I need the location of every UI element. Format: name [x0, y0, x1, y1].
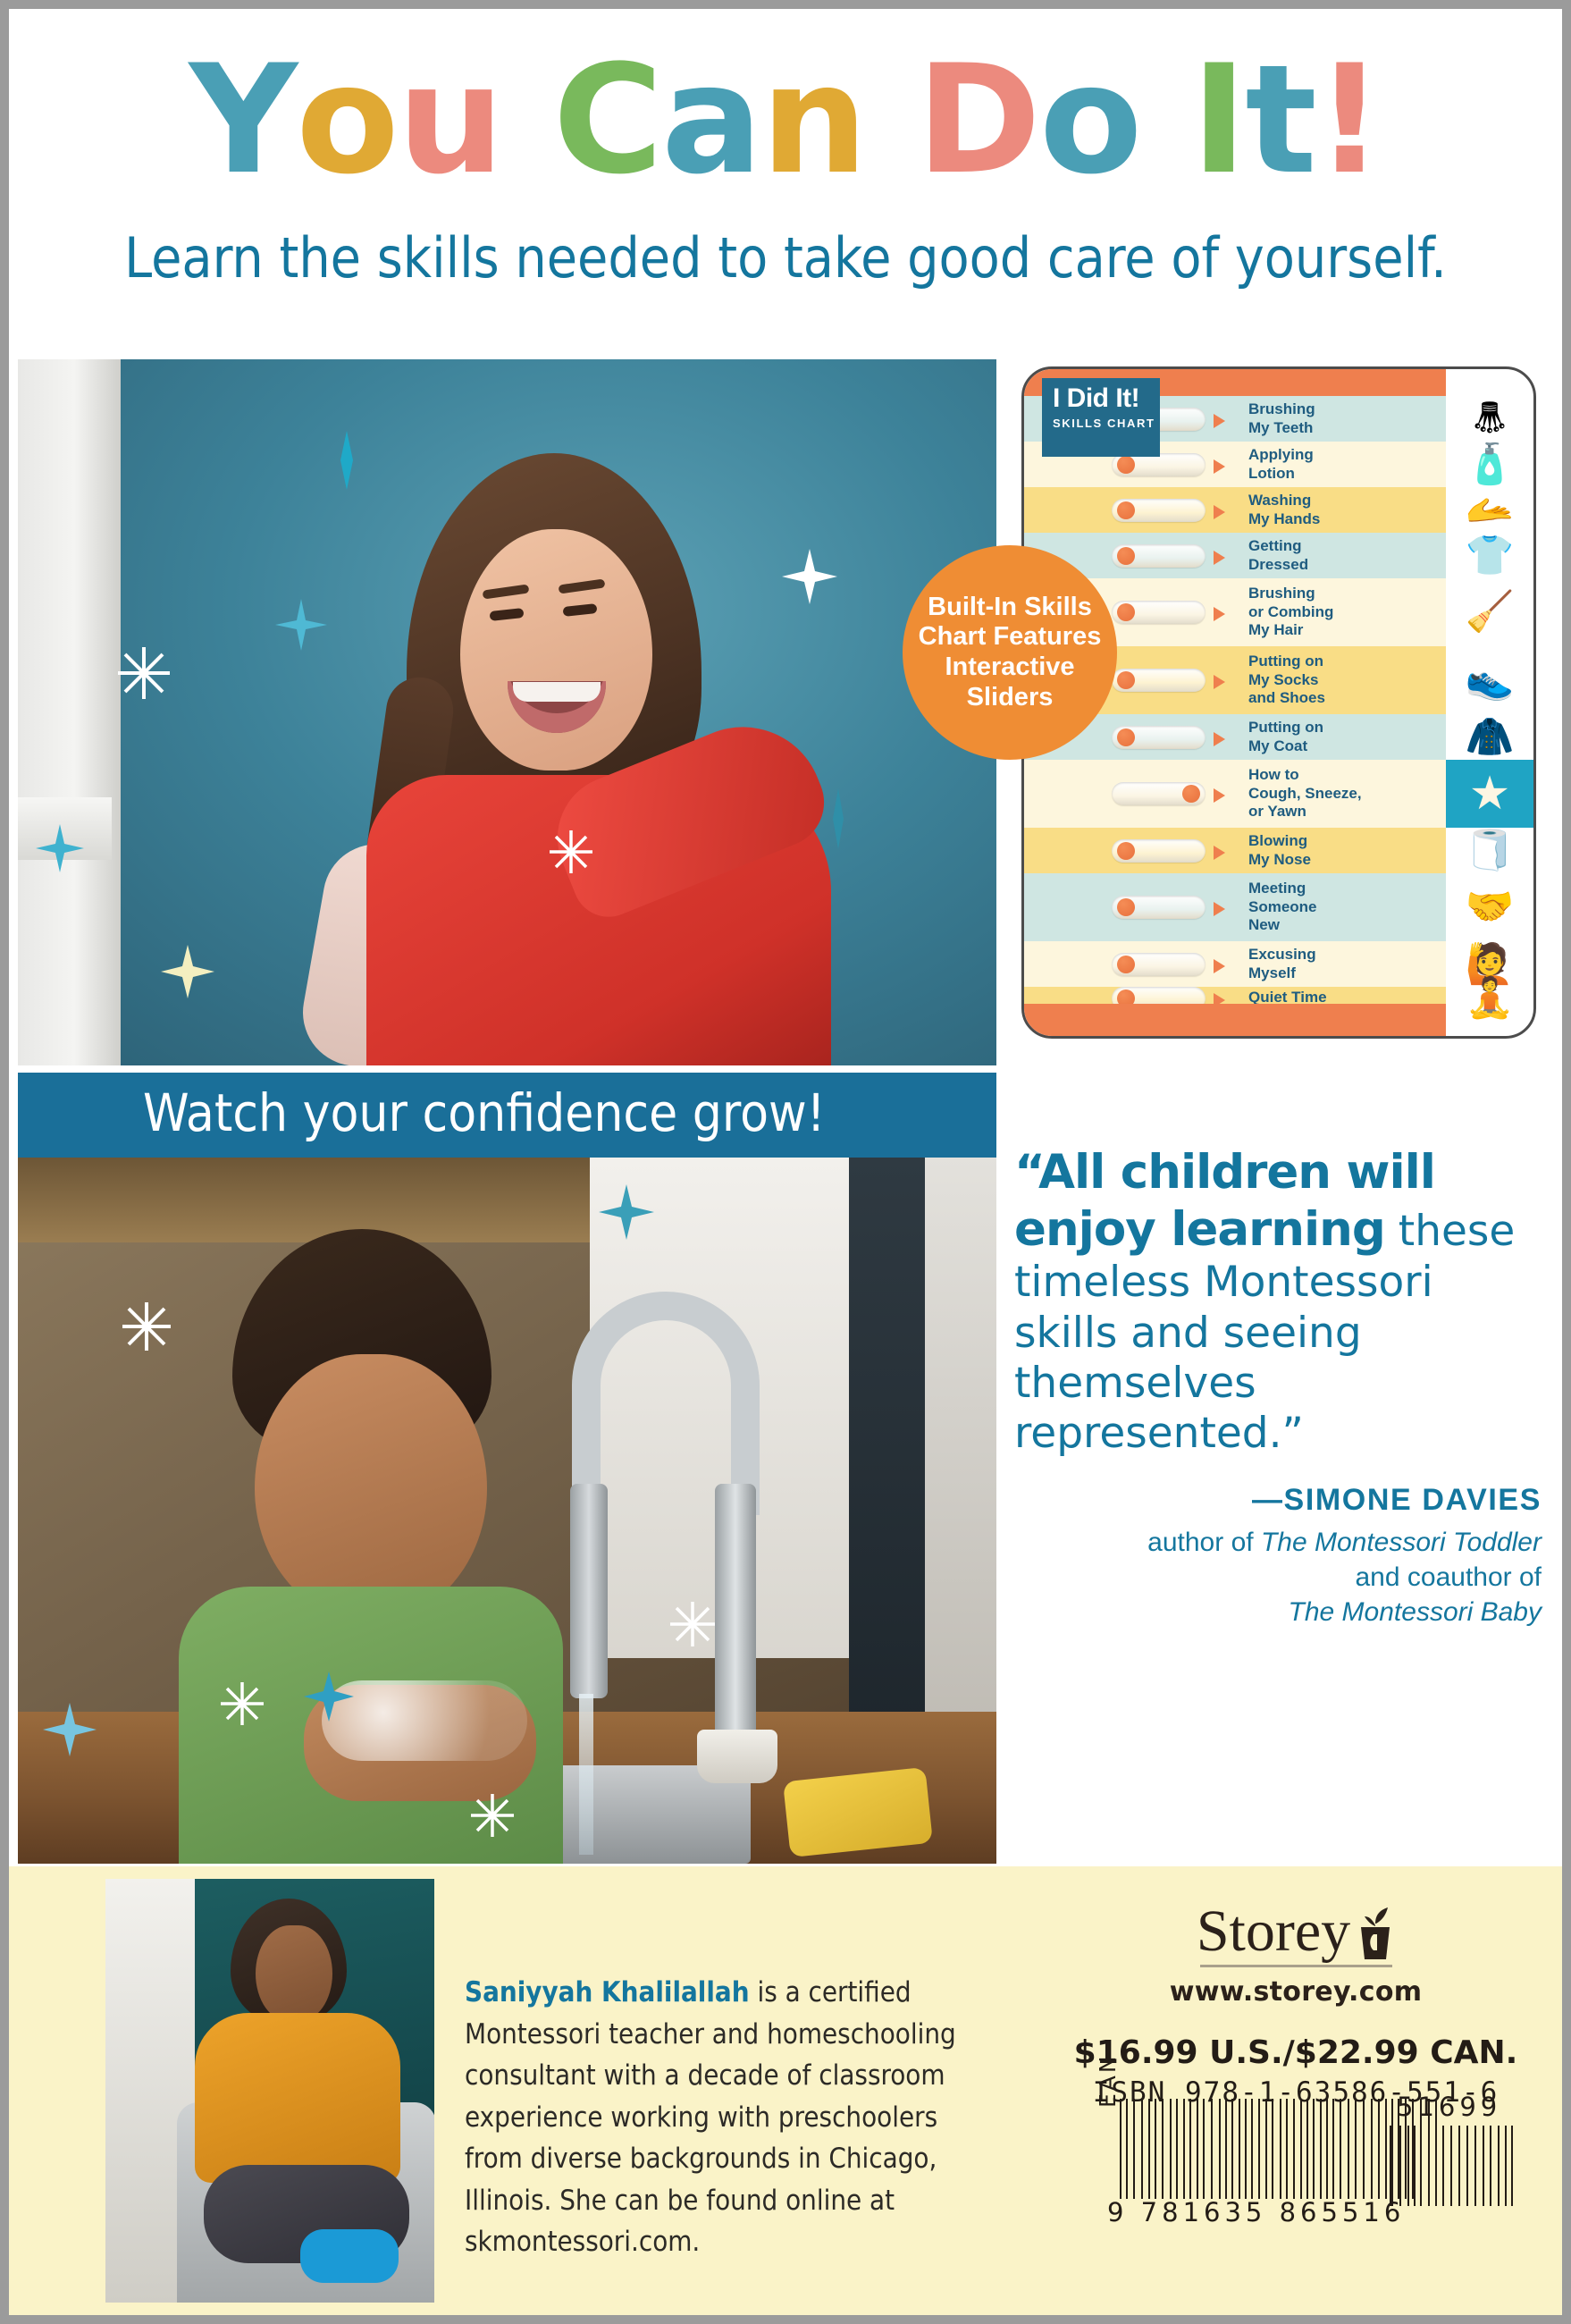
- photo1-face: [460, 529, 652, 770]
- barcode-gap: [1158, 2099, 1160, 2199]
- barcode-gap: [1255, 2099, 1256, 2199]
- title-letter: [502, 45, 553, 195]
- chart-icon-column: 🨥🧴🫴👕🧹👟🧥★🧻🤝🙋🧘: [1446, 396, 1533, 1009]
- skill-slider[interactable]: [1112, 726, 1206, 749]
- barcode-gap: [1454, 2126, 1457, 2206]
- photo2-head: [255, 1354, 487, 1622]
- barcode-addon-bars: [1390, 2126, 1517, 2206]
- publisher-logo: Storey: [1063, 1902, 1528, 1961]
- barcode-bar: [1498, 2126, 1500, 2206]
- barcode-gap: [1446, 2126, 1449, 2206]
- barcode-bar: [1141, 2099, 1143, 2199]
- publisher-block: Storey www.storey.com $16.99 U.S./$22.99…: [1063, 1902, 1528, 2109]
- barcode-gap: [1262, 2099, 1264, 2199]
- hairbrush-icon: 🧹: [1446, 578, 1533, 646]
- credit-title-1: The Montessori Toddler: [1261, 1528, 1542, 1557]
- barcode-bar: [1428, 2126, 1430, 2206]
- barcode-bar: [1474, 2126, 1476, 2206]
- quote-credit: author of The Montessori Toddler and coa…: [1014, 1525, 1542, 1629]
- barcode-gap: [1462, 2126, 1465, 2206]
- barcode-gap: [1137, 2099, 1139, 2199]
- barcode-bar: [1490, 2126, 1491, 2206]
- barcode-bar: [1313, 2099, 1315, 2199]
- barcode-gap: [1206, 2099, 1209, 2199]
- barcode-bar: [1148, 2099, 1150, 2199]
- skill-label: BlowingMy Nose: [1248, 832, 1402, 869]
- barcode-bar: [1239, 2099, 1240, 2199]
- ean-label: EAN: [1095, 2053, 1121, 2108]
- barcode-gap: [1336, 2099, 1338, 2199]
- barcode-bar: [1225, 2099, 1227, 2199]
- skill-label: Putting onMy Socksand Shoes: [1248, 653, 1402, 708]
- barcode-gap: [1395, 2126, 1398, 2206]
- barcode-gap: [1343, 2099, 1346, 2199]
- barcode-gap: [1478, 2126, 1481, 2206]
- toothbrush-icon: 🨥: [1446, 396, 1533, 442]
- barcode-bar: [1511, 2126, 1513, 2206]
- shoes-icon: 👟: [1446, 646, 1533, 714]
- slider-arrow-icon: [1214, 505, 1225, 519]
- skill-slider[interactable]: [1112, 782, 1206, 805]
- barcode-bar: [1280, 2099, 1281, 2199]
- skill-slider[interactable]: [1112, 896, 1206, 919]
- quote-bold: “All children will enjoy learning: [1014, 1145, 1435, 1257]
- photo1-window-frame: [18, 359, 121, 1065]
- barcode-gap: [1297, 2099, 1298, 2199]
- title-letter: a: [661, 45, 760, 195]
- barcode-bar: [1170, 2099, 1172, 2199]
- title-letter: [1140, 45, 1191, 195]
- photo-boy-washing-hands: [18, 1158, 996, 1864]
- barcode-bar: [1211, 2099, 1213, 2199]
- slider-knob[interactable]: [1117, 603, 1135, 621]
- slider-knob[interactable]: [1117, 842, 1135, 860]
- barcode-gap: [1222, 2099, 1223, 2199]
- author-photo-face: [256, 1925, 332, 2022]
- slider-arrow-icon: [1214, 846, 1225, 860]
- publisher-name: Storey: [1197, 1902, 1350, 1961]
- barcode-gap: [1145, 2099, 1147, 2199]
- photo2-window-frame: [849, 1158, 925, 1801]
- barcode-digits: 9 781635 865516: [1107, 2197, 1405, 2227]
- handshake-icon: 🤝: [1446, 873, 1533, 941]
- star-icon: ★: [1446, 760, 1533, 828]
- barcode-gap: [1403, 2126, 1406, 2206]
- photo2-soap-suds: [322, 1680, 527, 1761]
- barcode-bar: [1348, 2099, 1349, 2199]
- credit-prefix: author of: [1147, 1528, 1261, 1557]
- skill-slider[interactable]: [1112, 953, 1206, 976]
- title-letter: o: [1039, 45, 1140, 195]
- slider-arrow-icon: [1214, 607, 1225, 621]
- barcode-gap: [1374, 2099, 1376, 2199]
- barcode-bar: [1466, 2126, 1468, 2206]
- skill-slider[interactable]: [1112, 544, 1206, 568]
- author-bio: Saniyyah Khalilallah is a certified Mont…: [465, 1972, 1001, 2263]
- barcode-gap: [1235, 2099, 1237, 2199]
- barcode-bar: [1286, 2099, 1288, 2199]
- title-letter: o: [296, 45, 397, 195]
- skill-label: ApplyingLotion: [1248, 446, 1402, 483]
- author-portrait: [105, 1879, 434, 2303]
- barcode-gap: [1200, 2099, 1201, 2199]
- skill-label: GettingDressed: [1248, 537, 1402, 574]
- barcode-bar: [1326, 2099, 1328, 2199]
- barcode-gap: [1493, 2126, 1496, 2206]
- slider-arrow-icon: [1214, 551, 1225, 565]
- title-letter: n: [760, 45, 866, 195]
- title-letter: C: [553, 45, 661, 195]
- title-letter: !: [1315, 45, 1382, 195]
- skill-label: ExcusingMyself: [1248, 946, 1402, 982]
- slider-knob[interactable]: [1117, 501, 1135, 519]
- barcode-bar: [1378, 2099, 1380, 2199]
- chart-bottom-bar: [1024, 1004, 1446, 1036]
- barcode-bar: [1450, 2126, 1452, 2206]
- slider-arrow-icon: [1214, 959, 1225, 973]
- skill-label: Brushingor CombingMy Hair: [1248, 585, 1402, 640]
- barcode-gap: [1316, 2099, 1318, 2199]
- meditating-child-icon: 🧘: [1446, 987, 1533, 1009]
- barcode-bar: [1320, 2099, 1322, 2199]
- barcode-bar: [1306, 2099, 1308, 2199]
- review-quote-block: “All children will enjoy learning these …: [1014, 1144, 1542, 1859]
- page-title: You Can Do It!: [9, 45, 1562, 195]
- quote-credit-line-3: The Montessori Baby: [1014, 1595, 1542, 1629]
- barcode-addon-digits: 51699: [1397, 2092, 1501, 2122]
- barcode-gap: [1152, 2099, 1153, 2199]
- flowerpot-icon: [1356, 1906, 1395, 1961]
- barcode-gap: [1290, 2099, 1291, 2199]
- slider-knob[interactable]: [1182, 785, 1200, 803]
- feature-badge-text: Built-In Skills Chart Features Interacti…: [903, 593, 1117, 713]
- slider-knob[interactable]: [1117, 456, 1135, 474]
- book-back-cover: You Can Do It! Learn the skills needed t…: [9, 9, 1562, 2315]
- barcode-gap: [1351, 2099, 1353, 2199]
- photo-girl-getting-dressed: [18, 359, 996, 1065]
- barcode-gap: [1411, 2126, 1412, 2206]
- author-name: Saniyyah Khalilallah: [465, 1976, 750, 2008]
- page-subtitle: Learn the skills needed to take good car…: [9, 228, 1562, 289]
- barcode-bar: [1442, 2126, 1444, 2206]
- slider-knob[interactable]: [1117, 956, 1135, 973]
- barcode-gap: [1486, 2126, 1488, 2206]
- barcode-bar: [1483, 2126, 1484, 2206]
- slider-knob[interactable]: [1117, 547, 1135, 565]
- barcode-bar: [1390, 2126, 1393, 2206]
- barcode-bar: [1126, 2099, 1128, 2199]
- barcode-bar: [1458, 2126, 1460, 2206]
- skill-slider[interactable]: [1112, 601, 1206, 624]
- barcode-bar: [1120, 2099, 1122, 2199]
- barcode-bar: [1219, 2099, 1221, 2199]
- chart-row: GettingDressed: [1024, 533, 1446, 578]
- title-letter: [866, 45, 917, 195]
- clothes-icon: 👕: [1446, 533, 1533, 578]
- barcode-bar: [1272, 2099, 1273, 2199]
- barcode-gap: [1214, 2099, 1217, 2199]
- barcode-bar: [1399, 2126, 1401, 2206]
- barcode-bar: [1300, 2099, 1302, 2199]
- slider-arrow-icon: [1214, 732, 1225, 746]
- skill-label: BrushingMy Teeth: [1248, 400, 1402, 437]
- publisher-url[interactable]: www.storey.com: [1063, 1976, 1528, 2008]
- barcode-gap: [1508, 2126, 1509, 2206]
- slider-arrow-icon: [1214, 414, 1225, 428]
- barcode-bar: [1371, 2099, 1373, 2199]
- barcode-gap: [1358, 2099, 1361, 2199]
- barcode-bar: [1265, 2099, 1267, 2199]
- barcode-bar: [1245, 2099, 1247, 2199]
- barcode-bar: [1340, 2099, 1341, 2199]
- slider-arrow-icon: [1214, 675, 1225, 689]
- barcode-gap: [1304, 2099, 1305, 2199]
- slider-arrow-icon: [1214, 902, 1225, 916]
- barcode-gap: [1269, 2099, 1270, 2199]
- slider-arrow-icon: [1214, 788, 1225, 803]
- barcode-bar: [1420, 2126, 1422, 2206]
- barcode-gap: [1330, 2099, 1331, 2199]
- barcode-bar: [1155, 2099, 1156, 2199]
- chart-row: ExcusingMyself: [1024, 941, 1446, 987]
- barcode-gap: [1470, 2126, 1473, 2206]
- title-letter: Y: [189, 45, 297, 195]
- title-letter: u: [398, 45, 503, 195]
- skill-slider[interactable]: [1112, 839, 1206, 863]
- quote-text: “All children will enjoy learning these …: [1014, 1144, 1542, 1460]
- barcode-bar: [1505, 2126, 1507, 2206]
- price-text: $16.99 U.S./$22.99 CAN.: [1063, 2034, 1528, 2071]
- barcode-bar: [1176, 2099, 1178, 2199]
- barcode-gap: [1501, 2126, 1503, 2206]
- skill-label: Putting onMy Coat: [1248, 719, 1402, 755]
- quote-attribution: —SIMONE DAVIES: [1014, 1483, 1542, 1518]
- tissue-box-icon: 🧻: [1446, 828, 1533, 873]
- photo2-dish-cloth: [783, 1767, 933, 1857]
- barcode-gap: [1187, 2099, 1188, 2199]
- barcode-gap: [1165, 2099, 1168, 2199]
- barcode-bar: [1435, 2126, 1437, 2206]
- barcode-gap: [1229, 2099, 1230, 2199]
- barcode-gap: [1366, 2099, 1369, 2199]
- barcode-gap: [1310, 2099, 1311, 2199]
- barcode-bar: [1293, 2099, 1295, 2199]
- barcode-bar: [1332, 2099, 1334, 2199]
- chart-row: MeetingSomeoneNew: [1024, 873, 1446, 941]
- barcode-gap: [1515, 2126, 1516, 2206]
- title-letter: t: [1245, 45, 1315, 195]
- skill-label: WashingMy Hands: [1248, 492, 1402, 528]
- photo2-cup: [697, 1730, 777, 1783]
- skill-slider[interactable]: [1112, 499, 1206, 522]
- barcode-gap: [1248, 2099, 1249, 2199]
- chart-row: BlowingMy Nose: [1024, 828, 1446, 873]
- barcode-bar: [1363, 2099, 1365, 2199]
- barcode-bar: [1355, 2099, 1357, 2199]
- chart-logo-title: I Did It!: [1053, 385, 1160, 412]
- barcode-bar: [1407, 2126, 1409, 2206]
- barcode-gap: [1424, 2126, 1426, 2206]
- author-photo-sock: [300, 2229, 399, 2283]
- quote-credit-line-1: author of The Montessori Toddler: [1014, 1525, 1542, 1560]
- slider-knob[interactable]: [1117, 898, 1135, 916]
- barcode-gap: [1432, 2126, 1433, 2206]
- barcode-bar: [1258, 2099, 1260, 2199]
- slider-knob[interactable]: [1117, 728, 1135, 746]
- feature-badge: Built-In Skills Chart Features Interacti…: [903, 545, 1117, 760]
- barcode-gap: [1173, 2099, 1174, 2199]
- author-bio-text: is a certified Montessori teacher and ho…: [465, 1976, 956, 2258]
- barcode-bar: [1203, 2099, 1205, 2199]
- confidence-banner: Watch your confidence grow!: [18, 1073, 996, 1158]
- barcode-gap: [1123, 2099, 1124, 2199]
- barcode-gap: [1180, 2099, 1181, 2199]
- barcode-bar: [1231, 2099, 1233, 2199]
- slider-knob[interactable]: [1117, 671, 1135, 689]
- barcode-gap: [1283, 2099, 1284, 2199]
- barcode-bar: [1251, 2099, 1253, 2199]
- chart-row: WashingMy Hands: [1024, 487, 1446, 533]
- cover-header: You Can Do It! Learn the skills needed t…: [9, 9, 1562, 349]
- barcode-bar: [1385, 2099, 1387, 2199]
- barcode-gap: [1439, 2126, 1441, 2206]
- photo2-faucet-base: [715, 1484, 756, 1752]
- barcode-gap: [1242, 2099, 1243, 2199]
- title-letter: D: [917, 45, 1039, 195]
- barcode-gap: [1382, 2099, 1383, 2199]
- photo1-teeth: [513, 682, 601, 702]
- barcode-bar: [1162, 2099, 1164, 2199]
- author-photo-sweater: [195, 2013, 400, 2183]
- barcode-bar: [1197, 2099, 1198, 2199]
- barcode-gap: [1193, 2099, 1195, 2199]
- chart-logo-subtitle: SKILLS CHART: [1053, 417, 1160, 430]
- barcode-gap: [1417, 2126, 1418, 2206]
- coat-icon: 🧥: [1446, 714, 1533, 760]
- barcode-bar: [1133, 2099, 1135, 2199]
- title-letter: I: [1191, 45, 1246, 195]
- publisher-rule: [1200, 1965, 1392, 1967]
- barcode-bar: [1183, 2099, 1185, 2199]
- lotion-bottle-icon: 🧴: [1446, 442, 1533, 487]
- skill-label: MeetingSomeoneNew: [1248, 880, 1402, 935]
- washing-hands-icon: 🫴: [1446, 487, 1533, 533]
- photo1-window-sill: [18, 797, 112, 860]
- barcode-gap: [1275, 2099, 1278, 2199]
- barcode-gap: [1323, 2099, 1324, 2199]
- skill-label: How toCough, Sneeze,or Yawn: [1248, 766, 1402, 821]
- banner-text: Watch your confidence grow!: [143, 1085, 826, 1142]
- slider-arrow-icon: [1214, 459, 1225, 474]
- photo1-girl: [259, 453, 885, 1065]
- skill-slider[interactable]: [1112, 669, 1206, 692]
- barcode-bar: [1189, 2099, 1191, 2199]
- barcode-bar: [1414, 2126, 1416, 2206]
- barcode-gap: [1130, 2099, 1131, 2199]
- chart-logo: I Did It! SKILLS CHART: [1042, 378, 1160, 457]
- quote-credit-line-2: and coauthor of: [1014, 1560, 1542, 1595]
- chart-row: How toCough, Sneeze,or Yawn: [1024, 760, 1446, 828]
- barcode-block: EAN 9 781635 865516 51699: [1095, 2092, 1542, 2261]
